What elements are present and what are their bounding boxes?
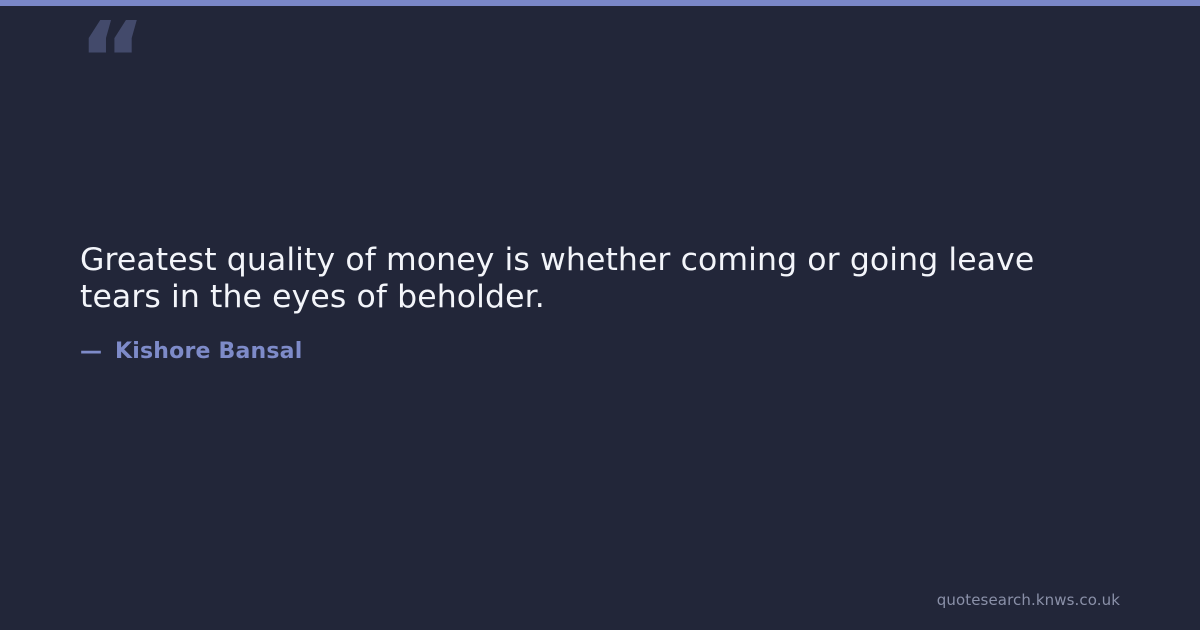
top-accent-bar — [0, 0, 1200, 6]
attribution-author: Kishore Bansal — [115, 338, 302, 367]
attribution-dash: — — [80, 338, 102, 367]
quote-body: Greatest quality of money is whether com… — [80, 242, 1055, 316]
opening-quotation-mark-icon: “ — [78, 8, 144, 112]
quote-card: “ Greatest quality of money is whether c… — [0, 0, 1200, 630]
site-watermark: quotesearch.knws.co.uk — [937, 591, 1120, 609]
quote-text: Greatest quality of money is whether com… — [80, 242, 1055, 316]
attribution: — Kishore Bansal — [80, 338, 302, 367]
